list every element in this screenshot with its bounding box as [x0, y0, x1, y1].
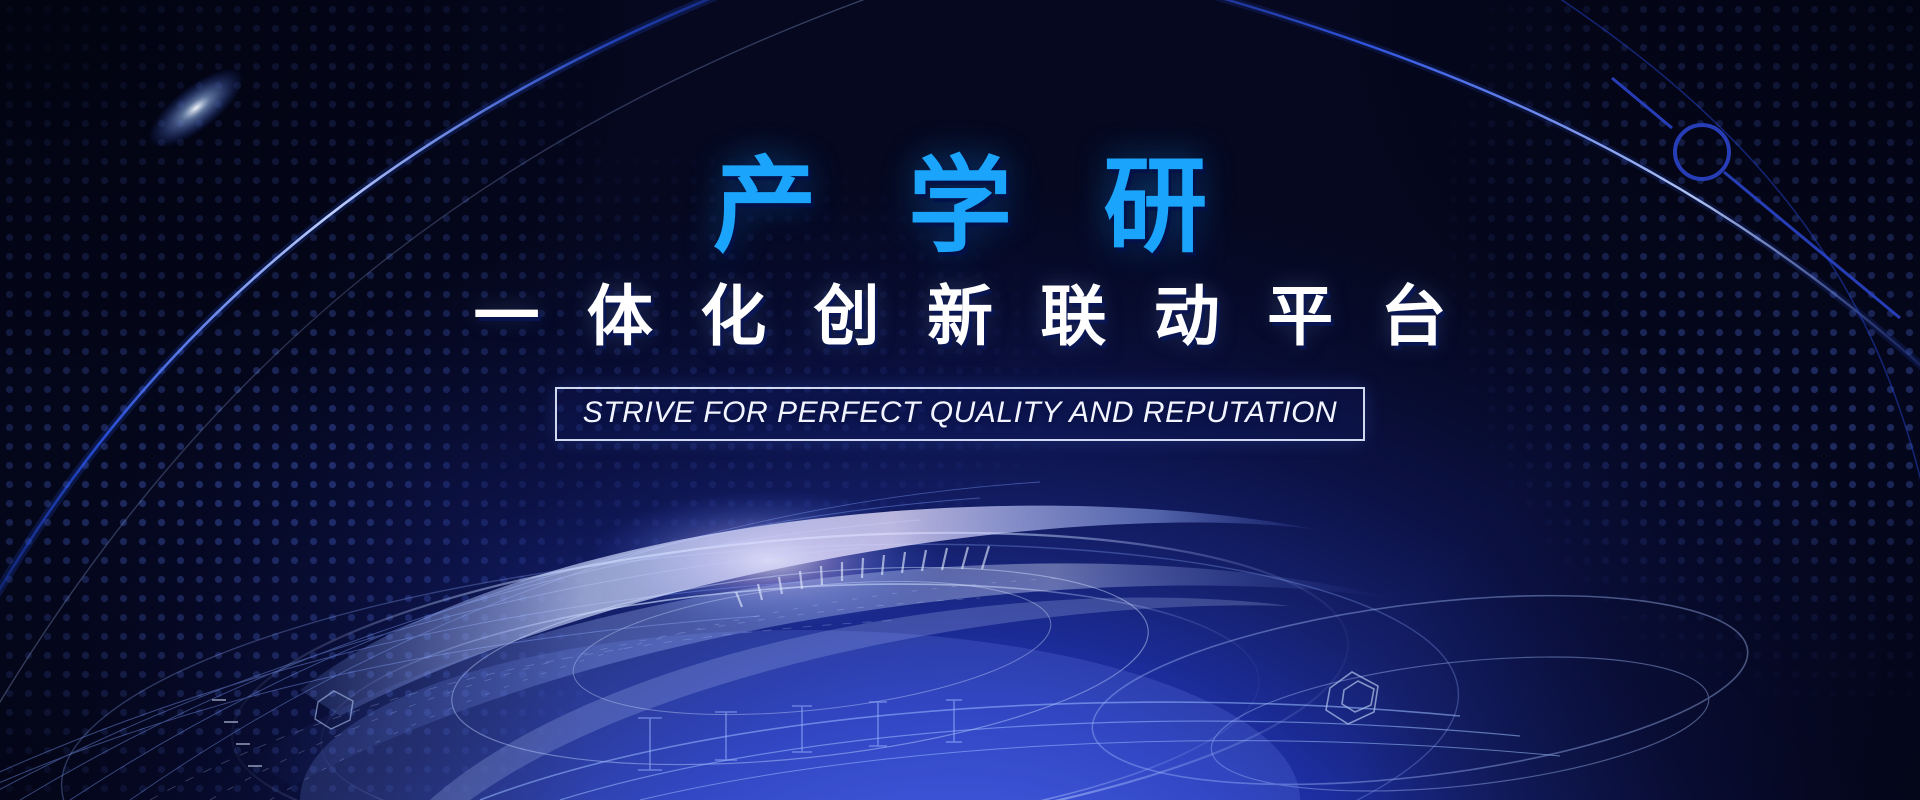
banner-root: 产 学 研 一 体 化 创 新 联 动 平 台 STRIVE FOR PERFE…: [0, 0, 1920, 800]
banner-text-content: 产 学 研 一 体 化 创 新 联 动 平 台 STRIVE FOR PERFE…: [0, 0, 1920, 441]
page-subtitle: 一 体 化 创 新 联 动 平 台: [459, 280, 1461, 353]
tagline-text: STRIVE FOR PERFECT QUALITY AND REPUTATIO…: [583, 398, 1337, 428]
tagline-box: STRIVE FOR PERFECT QUALITY AND REPUTATIO…: [555, 387, 1365, 441]
page-title: 产 学 研: [682, 152, 1239, 262]
